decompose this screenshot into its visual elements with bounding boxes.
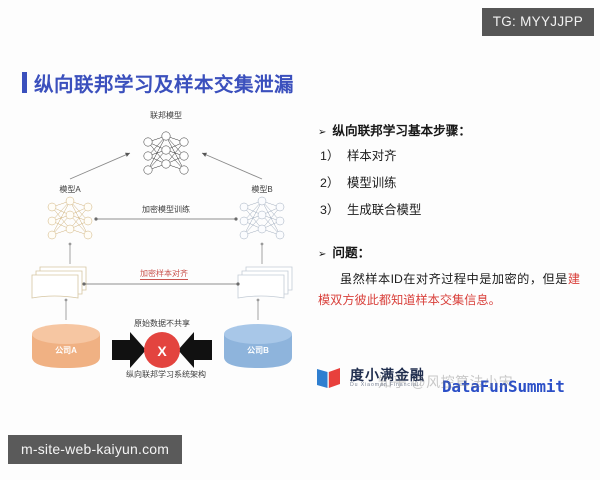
steps-list: 1） 样本对齐 2） 模型训练 3） 生成联合模型: [318, 146, 580, 218]
step-label: 生成联合模型: [347, 200, 421, 218]
sheets-a: [32, 267, 86, 298]
list-item: 3） 生成联合模型: [318, 200, 580, 218]
svg-text:X: X: [157, 343, 167, 359]
url-watermark-badge: m-site-web-kaiyun.com: [8, 435, 182, 464]
diagram-caption: 纵向联邦学习系统架构: [126, 369, 206, 380]
model-a-net: [48, 197, 92, 239]
title-text: 纵向联邦学习及样本交集泄漏: [34, 68, 294, 97]
steps-heading-text: 纵向联邦学习基本步骤：: [332, 120, 471, 139]
company-a-label: 公司A: [55, 345, 77, 356]
step-number: 1）: [320, 146, 337, 164]
step-label: 模型训练: [347, 173, 397, 191]
title-accent-bar: [22, 72, 27, 93]
book-logo-icon: [316, 366, 342, 390]
no-raw-data-label: 原始数据不共享: [134, 318, 190, 329]
encrypted-training-label: 加密模型训练: [142, 204, 190, 215]
problem-heading-text: 问题：: [332, 242, 370, 261]
sheets-b: [238, 267, 292, 298]
model-b-label: 模型B: [251, 184, 272, 195]
zhihu-watermark: 知乎 @风控算法小宋: [378, 372, 513, 392]
company-b-label: 公司B: [247, 345, 269, 356]
steps-heading: ➢ 纵向联邦学习基本步骤：: [318, 120, 580, 139]
telegram-watermark-badge: TG: MYYJJPP: [482, 8, 594, 36]
problem-body: 虽然样本ID在对齐过程中是加密的，但是建模双方彼此都知道样本交集信息。: [318, 269, 580, 311]
page-title: 纵向联邦学习及样本交集泄漏: [22, 68, 294, 97]
right-content-column: ➢ 纵向联邦学习基本步骤： 1） 样本对齐 2） 模型训练 3） 生成联合模型 …: [318, 120, 580, 311]
step-label: 样本对齐: [347, 146, 397, 164]
federated-model-net: [144, 132, 188, 174]
bullet-arrow-icon: ➢: [318, 250, 326, 260]
federated-learning-diagram: X 联邦模型 模型A 模型B 加密模型训练 加密样本对齐 原始数据不共享 公司A…: [26, 112, 306, 380]
bullet-arrow-icon: ➢: [318, 128, 326, 138]
diagram-svg: X: [26, 112, 306, 380]
slide-screenshot: TG: MYYJJPP 纵向联邦学习及样本交集泄漏: [0, 0, 600, 480]
problem-heading: ➢ 问题：: [318, 242, 580, 261]
problem-text-normal: 虽然样本ID在对齐过程中是加密的，但是: [340, 272, 568, 286]
problem-block: ➢ 问题： 虽然样本ID在对齐过程中是加密的，但是建模双方彼此都知道样本交集信息…: [318, 242, 580, 311]
step-number: 2）: [320, 173, 337, 191]
list-item: 2） 模型训练: [318, 173, 580, 191]
model-a-label: 模型A: [59, 184, 80, 195]
step-number: 3）: [320, 200, 337, 218]
encrypted-alignment-label: 加密样本对齐: [140, 268, 188, 279]
federated-model-label: 联邦模型: [150, 110, 182, 121]
model-b-net: [240, 197, 284, 239]
list-item: 1） 样本对齐: [318, 146, 580, 164]
